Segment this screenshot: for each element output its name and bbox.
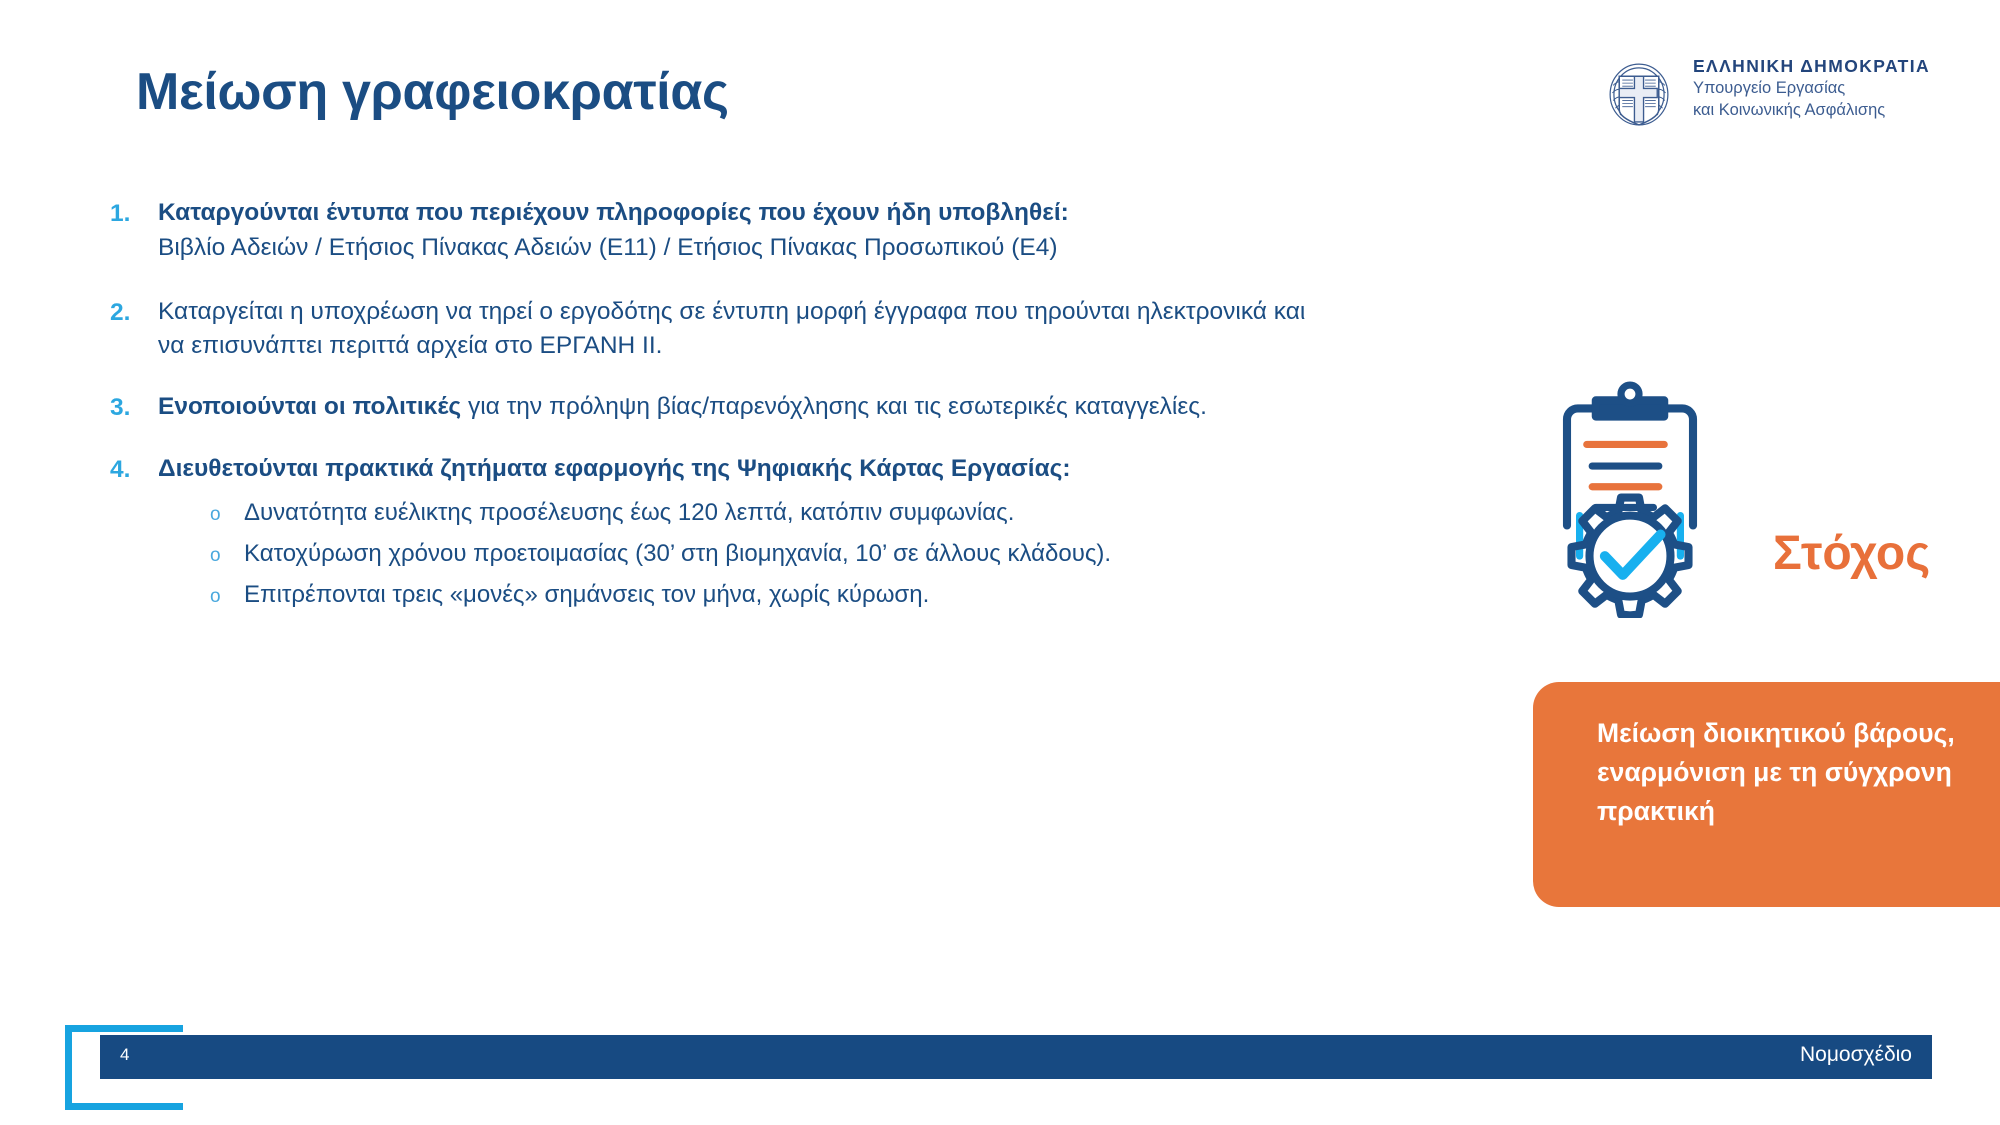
list-item-number: 4.	[110, 452, 158, 618]
logo-line-republic: ΕΛΛΗΝΙΚΗ ΔΗΜΟΚΡΑΤΙΑ	[1693, 56, 1930, 78]
list-item: 4. Διευθετούνται πρακτικά ζητήματα εφαρμ…	[110, 452, 1440, 618]
sub-list-item-text: Κατοχύρωση χρόνου προετοιμασίας (30’ στη…	[244, 536, 1111, 572]
circle-bullet-icon: o	[210, 583, 244, 612]
logo-line-ministry-2: και Κοινωνικής Ασφάλισης	[1693, 100, 1930, 122]
list-item: o Δυνατότητα ευέλικτης προσέλευσης έως 1…	[210, 495, 1440, 531]
list-item-bold-prefix: Ενοποιούνται οι πολιτικές	[158, 393, 461, 420]
list-item-text: Ενοποιούνται οι πολιτικές για την πρόληψ…	[158, 390, 1373, 425]
goal-label: Στόχος	[1773, 530, 1930, 578]
list-item: o Κατοχύρωση χρόνου προετοιμασίας (30’ σ…	[210, 536, 1440, 572]
ministry-logo: ΕΛΛΗΝΙΚΗ ΔΗΜΟΚΡΑΤΙΑ Υπουργείο Εργασίας κ…	[1601, 53, 1930, 131]
list-item-heading: Καταργούνται έντυπα που περιέχουν πληροφ…	[158, 196, 1440, 231]
list-item-rest: για την πρόληψη βίας/παρενόχλησης και τι…	[461, 393, 1207, 420]
content-list: 1. Καταργούνται έντυπα που περιέχουν πλη…	[110, 196, 1440, 647]
logo-line-ministry: Υπουργείο Εργασίας	[1693, 78, 1930, 100]
list-item-text: Καταργείται η υποχρέωση να τηρεί ο εργοδ…	[158, 295, 1328, 365]
slide: Μείωση γραφειοκρατίας ΕΛΛΗΝΙΚΗ ΔΗΜΟΚΡΑΤΙ…	[0, 0, 2000, 1125]
sub-list-item-text: Επιτρέπονται τρεις «μονές» σημάνσεις τον…	[244, 577, 929, 613]
footer-page-number: 4	[120, 1046, 129, 1063]
clipboard-gear-check-icon	[1540, 378, 1720, 618]
list-item-detail: Βιβλίο Αδειών / Ετήσιος Πίνακας Αδειών (…	[158, 231, 1440, 266]
goal-callout-text: Μείωση διοικητικού βάρους, εναρμόνιση με…	[1597, 714, 2000, 831]
list-item-number: 3.	[110, 390, 158, 426]
page-title: Μείωση γραφειοκρατίας	[136, 62, 729, 122]
goal-callout-box: Μείωση διοικητικού βάρους, εναρμόνιση με…	[1533, 682, 2000, 907]
list-item-heading: Διευθετούνται πρακτικά ζητήματα εφαρμογή…	[158, 452, 1440, 487]
footer-label: Νομοσχέδιο	[1500, 1044, 1912, 1065]
list-item: o Επιτρέπονται τρεις «μονές» σημάνσεις τ…	[210, 577, 1440, 613]
list-item: 2. Καταργείται η υποχρέωση να τηρεί ο ερ…	[110, 295, 1440, 365]
list-item-number: 1.	[110, 196, 158, 266]
circle-bullet-icon: o	[210, 542, 244, 571]
greek-coat-of-arms-icon	[1601, 55, 1677, 131]
sub-list-item-text: Δυνατότητα ευέλικτης προσέλευσης έως 120…	[244, 495, 1014, 531]
sub-list: o Δυνατότητα ευέλικτης προσέλευσης έως 1…	[158, 495, 1440, 613]
list-item-number: 2.	[110, 295, 158, 365]
list-item: 3. Ενοποιούνται οι πολιτικές για την πρό…	[110, 390, 1440, 426]
circle-bullet-icon: o	[210, 501, 244, 530]
list-item: 1. Καταργούνται έντυπα που περιέχουν πλη…	[110, 196, 1440, 266]
